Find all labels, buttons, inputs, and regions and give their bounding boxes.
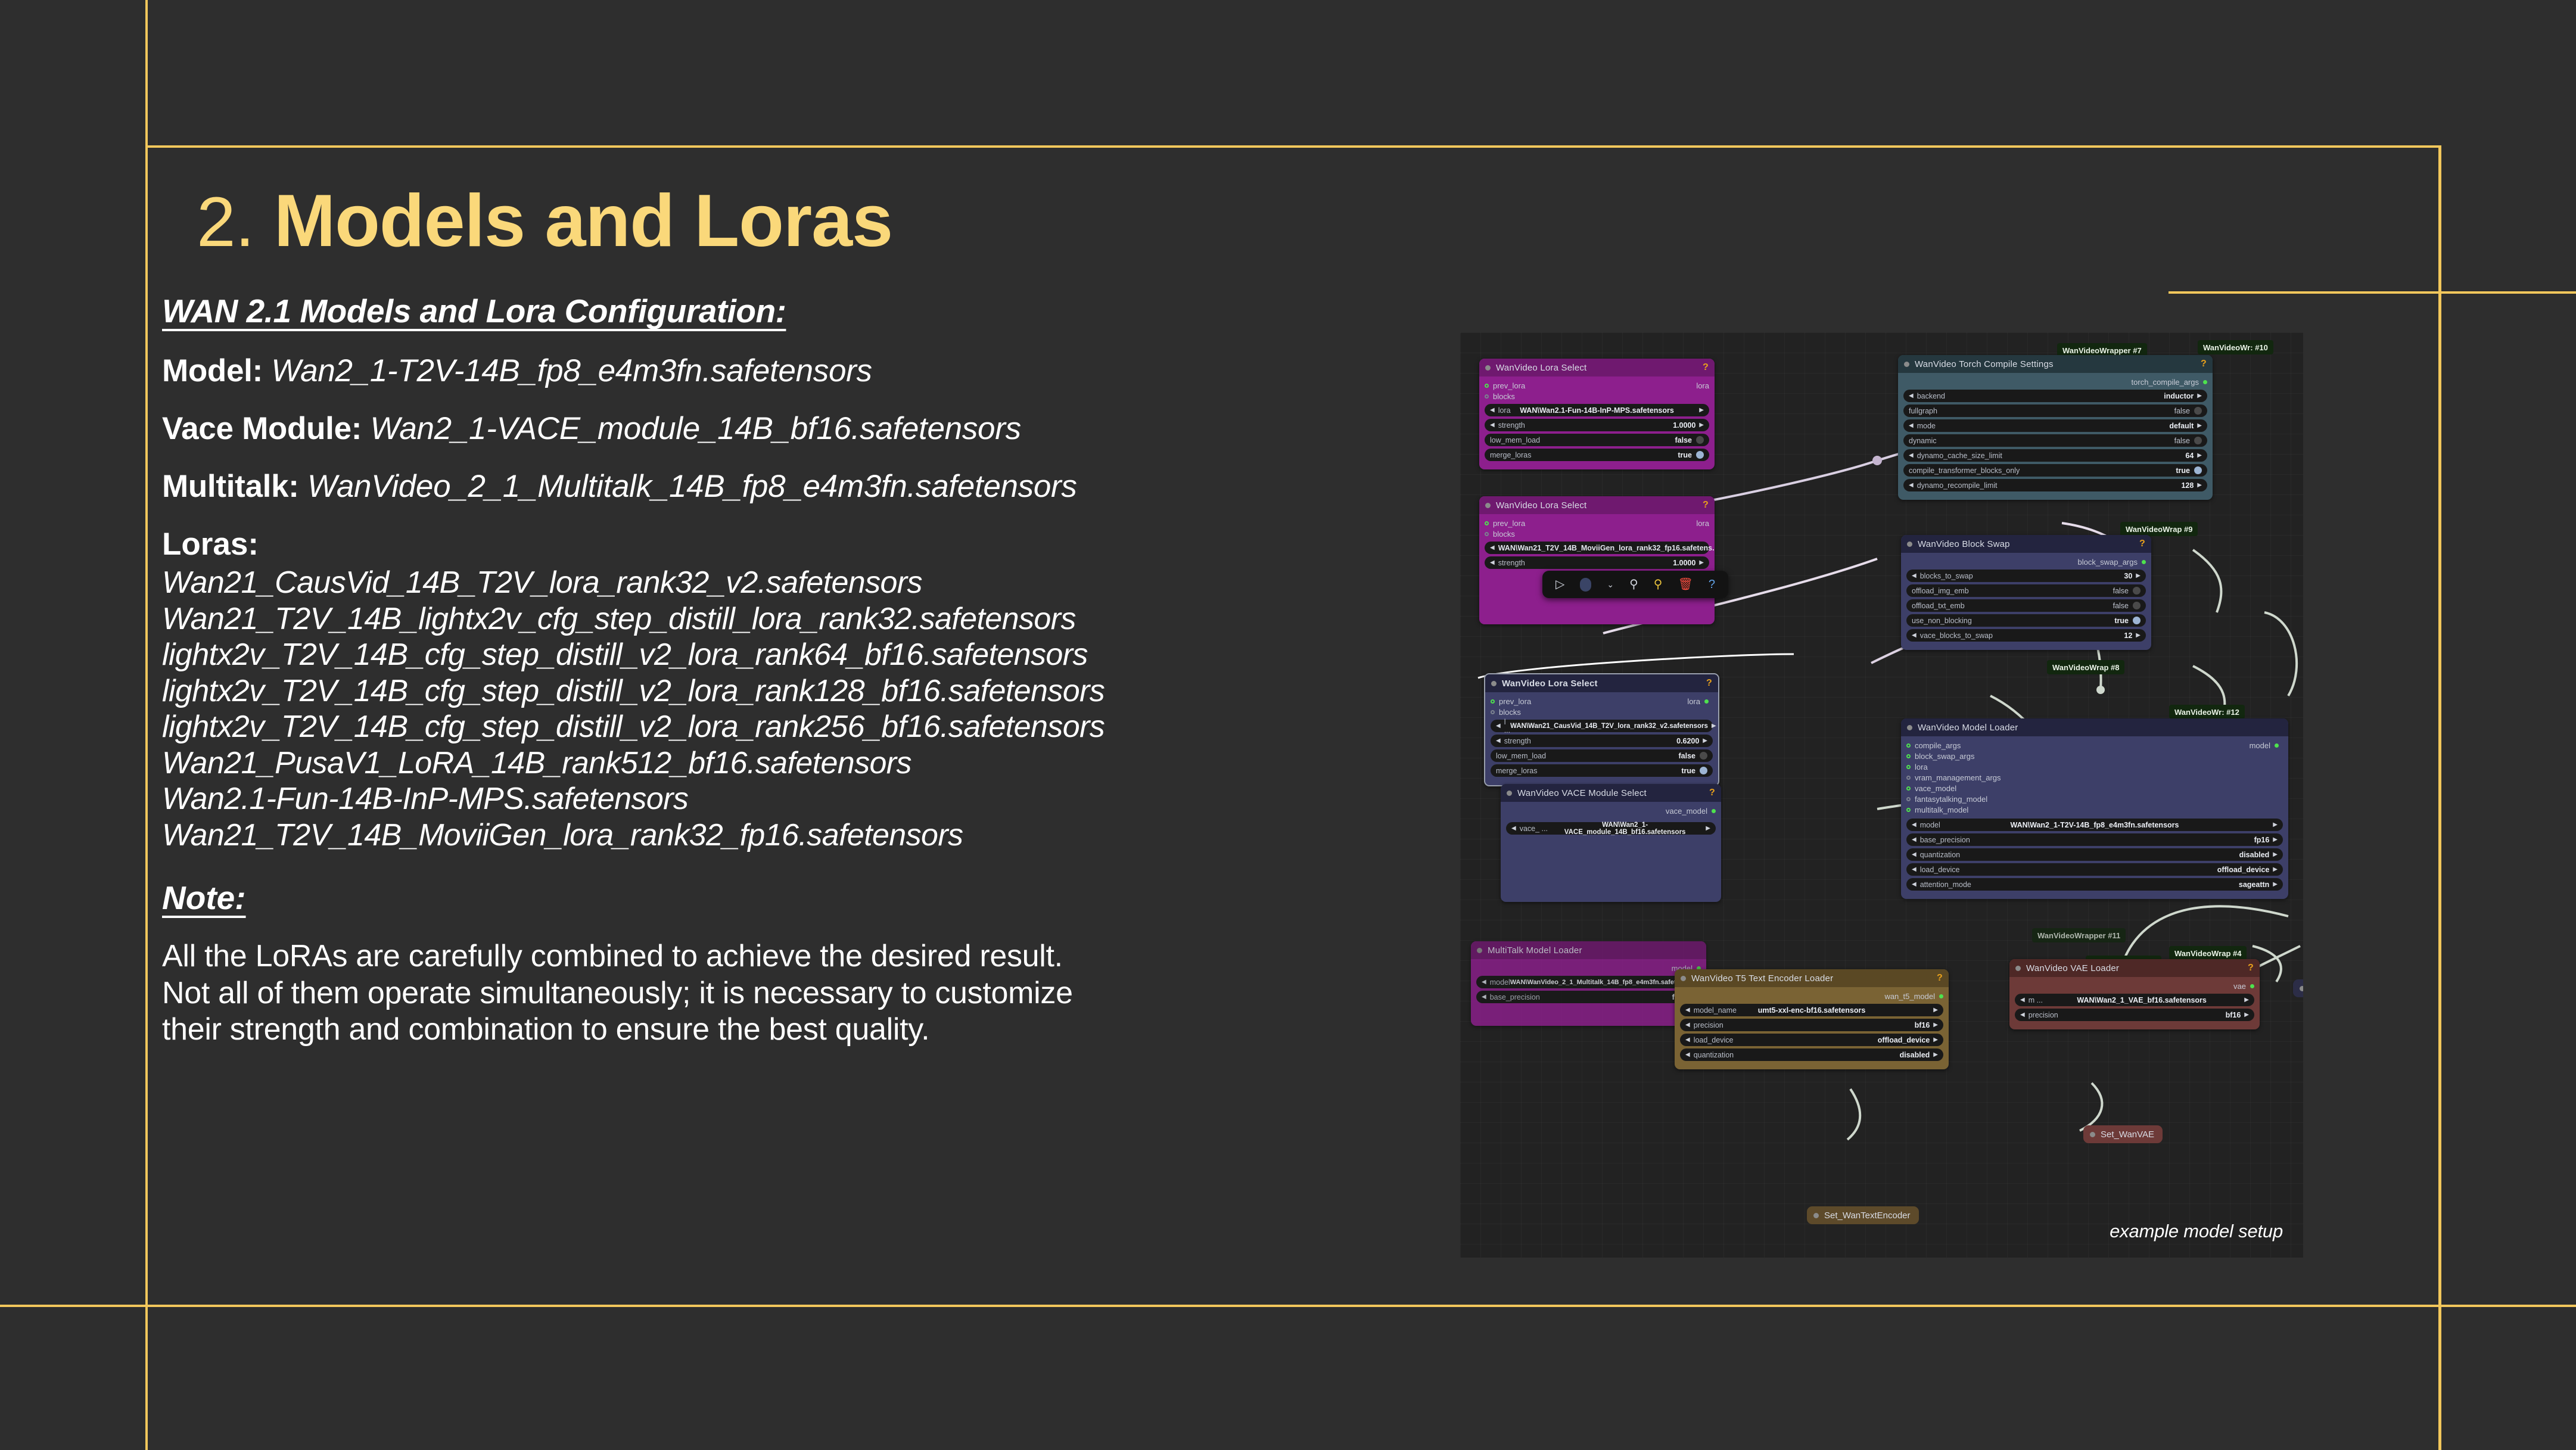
widget-value: true: [2114, 617, 2129, 625]
frame-rule-vertical-right: [2438, 145, 2441, 1450]
next-arrow-icon[interactable]: ▶: [1712, 723, 1716, 729]
widget-label: model: [1920, 821, 1940, 829]
input-port-multitalk-model[interactable]: multitalk_model: [1906, 804, 2283, 815]
widget-label: low_mem_load: [1496, 752, 1546, 760]
widget-dynamo-cache-size-limit[interactable]: ◀dynamo_cache_size_limit64▶: [1903, 449, 2207, 462]
widget-quantization[interactable]: ◀quantizationdisabled▶: [1906, 848, 2283, 861]
widget-offload-txt-emb[interactable]: offload_txt_embfalse: [1906, 599, 2146, 612]
widget-load-device[interactable]: ◀load_deviceoffload_device▶: [1680, 1034, 1943, 1046]
group-tag-wrapper-8: WanVideoWrap #8: [2047, 660, 2124, 674]
note-heading: Note:: [162, 879, 1431, 917]
port-pin-icon: [1485, 532, 1489, 536]
bypass-icon[interactable]: ⚲: [1629, 578, 1638, 590]
note-line: Not all of them operate simultaneously; …: [162, 975, 1431, 1012]
widget-value: false: [1679, 752, 1696, 760]
next-arrow-icon[interactable]: ▶: [2197, 422, 2202, 429]
input-port-fantasytalking-model[interactable]: fantasytalking_model: [1906, 794, 2283, 804]
prev-arrow-icon[interactable]: ◀: [1912, 572, 1917, 579]
node-body: prev_lora lora blocks ◀WAN\Wan21_T2V_14B…: [1479, 514, 1715, 577]
output-port-model-label: model: [2250, 741, 2270, 750]
node-header[interactable]: WanVideo Lora Select ?: [1479, 359, 1715, 376]
input-port-blocks[interactable]: blocks: [1485, 391, 1709, 402]
node-header[interactable]: WanVideo Torch Compile Settings ?: [1898, 355, 2213, 373]
port-label: blocks: [1493, 530, 1515, 539]
input-port-blocks[interactable]: blocks: [1485, 528, 1709, 539]
widget-value: false: [1675, 436, 1693, 444]
widget-label: quantization: [1920, 851, 1960, 859]
node-title: WanVideo VAE Loader: [2026, 963, 2119, 973]
widget-value: 64: [2185, 452, 2194, 460]
widget-load-device[interactable]: ◀load_deviceoffload_device▶: [1906, 863, 2283, 876]
widget-value: 1.0000: [1673, 559, 1695, 567]
multitalk-value: WanVideo_2_1_Multitalk_14B_fp8_e4m3fn.sa…: [307, 469, 1077, 504]
toggle-knob[interactable]: [2194, 437, 2202, 444]
frame-rule-horizontal-mid: [2169, 291, 2576, 294]
node-lora-select-mid[interactable]: WanVideo Lora Select ? prev_lora lora bl…: [1479, 496, 1715, 624]
widget-label: compile_transformer_blocks_only: [1909, 466, 2020, 475]
node-lora-select-causvid[interactable]: WanVideo Lora Select ? prev_lora lora bl…: [1484, 673, 1719, 786]
input-port-vace-model[interactable]: vace_model: [1906, 783, 2283, 794]
input-port-prev-lora[interactable]: prev_lora lora: [1485, 380, 1709, 391]
next-arrow-icon[interactable]: ▶: [1933, 1037, 1938, 1043]
toggle-knob[interactable]: [1696, 451, 1704, 459]
group-tag-wrapper-10: WanVideoWr: #10: [2198, 340, 2273, 354]
collapse-dot-icon[interactable]: [1491, 681, 1497, 686]
next-arrow-icon[interactable]: ▶: [2273, 851, 2278, 858]
prev-arrow-icon[interactable]: ◀: [1482, 979, 1486, 985]
node-body: torch_compile_args ◀backendinductor▶ ful…: [1898, 373, 2213, 500]
widget-label: vace_blocks_to_swap: [1920, 631, 1993, 640]
list-item: lightx2v_T2V_14B_cfg_step_distill_v2_lor…: [162, 709, 1431, 745]
prev-arrow-icon[interactable]: ◀: [1912, 881, 1917, 888]
model-label: Model: [162, 353, 253, 388]
output-port-model[interactable]: model: [1476, 963, 1701, 973]
port-label: wan_t5_model: [1884, 992, 1935, 1001]
next-arrow-icon[interactable]: ▶: [2273, 881, 2278, 888]
node-multitalk-model-loader[interactable]: MultiTalk Model Loader model ◀modelWAN\W…: [1471, 941, 1706, 1026]
port-label: block_swap_args: [2078, 558, 2138, 567]
section-number: 2.: [197, 183, 254, 262]
widget-value: 12: [2124, 631, 2132, 640]
widget-value: true: [1678, 451, 1692, 459]
widget-value: 128: [2181, 481, 2194, 490]
toggle-knob[interactable]: [2133, 617, 2141, 624]
next-arrow-icon[interactable]: ▶: [1933, 1051, 1938, 1058]
port-pin-icon: [1704, 699, 1709, 704]
configuration-subheading: WAN 2.1 Models and Lora Configuration:: [162, 292, 1431, 330]
help-icon[interactable]: ?: [2248, 963, 2254, 973]
port-pin-icon: [1491, 699, 1495, 704]
next-arrow-icon[interactable]: ▶: [1706, 825, 1710, 832]
node-header[interactable]: WanVideo Lora Select ?: [1485, 674, 1718, 692]
widget-value: true: [2176, 466, 2190, 475]
port-pin-icon: [1906, 754, 1911, 758]
port-label: fantasytalking_model: [1915, 795, 1987, 804]
prev-arrow-icon[interactable]: ◀: [1912, 632, 1917, 639]
widget-label: mode: [1917, 422, 1936, 430]
collapse-dot-icon[interactable]: [1904, 362, 1909, 367]
widget-base-precision[interactable]: ◀base_precisionfp16▶: [1476, 991, 1701, 1003]
node-title: WanVideo Torch Compile Settings: [1915, 359, 2054, 369]
prev-arrow-icon[interactable]: ◀: [1685, 1022, 1690, 1028]
vace-module-value: Wan2_1-VACE_module_14B_bf16.safetensors: [371, 411, 1021, 446]
widget-quantization[interactable]: ◀quantizationdisabled▶: [1680, 1048, 1943, 1061]
node-body: vace_model ◀vace_ ...WAN\Wan2_1-VACE_mod…: [1501, 802, 1721, 843]
help-icon[interactable]: ?: [1937, 973, 1943, 984]
widget-label: use_non_blocking: [1912, 617, 1972, 625]
group-tag-wrapper-9: WanVideoWrap #9: [2120, 522, 2198, 536]
help-icon[interactable]: ?: [2139, 539, 2145, 549]
widget-model-name[interactable]: ◀model_nameumt5-xxl-enc-bf16.safetensors…: [1680, 1004, 1943, 1016]
prev-arrow-icon[interactable]: ◀: [1909, 482, 1914, 488]
prev-arrow-icon[interactable]: ◀: [1482, 994, 1486, 1000]
help-icon[interactable]: ?: [1709, 578, 1715, 590]
node-block-swap[interactable]: WanVideo Block Swap ? block_swap_args ◀b…: [1901, 535, 2151, 650]
port-label: vace_model: [1915, 784, 1956, 793]
chevron-down-icon[interactable]: ⌄: [1607, 580, 1614, 589]
widget-value: sageattn: [2239, 880, 2269, 889]
list-item: Wan21_PusaV1_LoRA_14B_rank512_bf16.safet…: [162, 745, 1431, 782]
node-toolbar[interactable]: ▷ ⌄ ⚲ ⚲ 🗑 ?: [1542, 571, 1728, 598]
widget-label: model_name: [1694, 1006, 1737, 1015]
node-header[interactable]: WanVideo VACE Module Select ?: [1501, 784, 1721, 802]
collapse-dot-icon[interactable]: [1813, 1213, 1819, 1218]
port-pin-icon: [1712, 809, 1716, 813]
next-arrow-icon[interactable]: ▶: [2197, 393, 2202, 399]
model-value: Wan2_1-T2V-14B_fp8_e4m3fn.safetensors: [271, 353, 872, 388]
prev-arrow-icon[interactable]: ◀: [1912, 836, 1917, 843]
widget-lora[interactable]: ◀WAN\Wan21_T2V_14B_MoviiGen_lora_rank32_…: [1485, 542, 1709, 554]
widget-value: WAN\Wan21_CausVid_14B_T2V_lora_rank32_v2…: [1510, 723, 1708, 730]
widget-attention-mode[interactable]: ◀attention_modesageattn▶: [1906, 878, 2283, 891]
port-label: lora: [1915, 763, 1928, 771]
node-title: WanVideo Lora Select: [1502, 679, 1598, 689]
prev-arrow-icon[interactable]: ◀: [1496, 723, 1501, 729]
list-item: Wan21_T2V_14B_MoviiGen_lora_rank32_fp16.…: [162, 817, 1431, 854]
node-t5-text-encoder-loader[interactable]: WanVideo T5 Text Encoder Loader ? wan_t5…: [1675, 969, 1949, 1069]
widget-low-mem-load[interactable]: low_mem_loadfalse: [1485, 434, 1709, 446]
widget-use-non-blocking[interactable]: use_non_blockingtrue: [1906, 614, 2146, 627]
widget-lora[interactable]: ◀loraWAN\Wan2.1-Fun-14B-InP-MPS.safetens…: [1485, 404, 1709, 416]
port-label: prev_lora: [1499, 697, 1531, 706]
node-wanvideo-model-loader[interactable]: WanVideo Model Loader compile_args model…: [1901, 718, 2288, 899]
port-label: prev_lora: [1493, 381, 1525, 390]
group-tag-wrapper-4: WanVideoWrap #4: [2169, 946, 2247, 960]
prev-arrow-icon[interactable]: ◀: [1912, 866, 1917, 873]
port-pin-icon: [2142, 560, 2146, 564]
port-label: vram_management_args: [1915, 773, 2001, 782]
prev-arrow-icon[interactable]: ◀: [1496, 738, 1501, 744]
list-item: Wan21_T2V_14B_lightx2v_cfg_step_distill_…: [162, 601, 1431, 637]
widget-label: dynamo_cache_size_limit: [1917, 452, 2002, 460]
group-tag-wrapper-11: WanVideoWrapper #11: [2032, 928, 2126, 942]
widget-value: WAN\Wan2_1_VAE_bf16.safetensors: [2043, 996, 2241, 1004]
set-node-label: Set_WanTextEncoder: [1824, 1211, 1911, 1221]
port-label: blocks: [1499, 708, 1521, 717]
next-arrow-icon[interactable]: ▶: [2197, 452, 2202, 459]
toggle-knob[interactable]: [1700, 752, 1707, 760]
collapse-dot-icon[interactable]: [1477, 948, 1482, 953]
input-port-block-swap-args[interactable]: block_swap_args: [1906, 751, 2283, 761]
port-label: multitalk_model: [1915, 805, 1968, 814]
port-pin-icon: [1491, 710, 1495, 714]
loras-label: Loras:: [162, 526, 1431, 562]
collapse-dot-icon[interactable]: [1485, 503, 1491, 508]
widget-merge-loras[interactable]: merge_lorastrue: [1491, 764, 1713, 777]
widget-label: attention_mode: [1920, 880, 1971, 889]
prev-arrow-icon[interactable]: ◀: [1685, 1051, 1690, 1058]
widget-strength[interactable]: ◀strength1.0000▶: [1485, 419, 1709, 431]
node-title: WanVideo Lora Select: [1496, 363, 1586, 373]
output-port-vace-model[interactable]: vace_model: [1506, 805, 1716, 816]
widget-label: strength: [1498, 559, 1525, 567]
widget-strength[interactable]: ◀strength1.0000▶: [1485, 556, 1709, 569]
next-arrow-icon[interactable]: ▶: [2273, 866, 2278, 873]
output-port-wan-t5-model[interactable]: wan_t5_model: [1680, 991, 1943, 1001]
next-arrow-icon[interactable]: ▶: [2136, 632, 2141, 639]
node-header[interactable]: MultiTalk Model Loader: [1471, 941, 1706, 959]
widget-merge-loras[interactable]: merge_lorastrue: [1485, 449, 1709, 461]
next-arrow-icon[interactable]: ▶: [1699, 559, 1704, 566]
widget-base-precision[interactable]: ◀base_precisionfp16▶: [1906, 833, 2283, 846]
next-arrow-icon[interactable]: ▶: [1699, 422, 1704, 428]
widget-strength[interactable]: ◀strength0.6200▶: [1491, 735, 1713, 747]
group-tag-wrapper-12: WanVideoWr: #12: [2169, 705, 2245, 719]
node-header[interactable]: WanVideo VAE Loader ?: [2009, 959, 2260, 977]
widget-label: merge_loras: [1490, 451, 1531, 459]
node-vae-loader[interactable]: WanVideo VAE Loader ? vae ◀m ...WAN\Wan2…: [2009, 959, 2260, 1029]
widget-label: dynamo_recompile_limit: [1917, 481, 1998, 490]
widget-value: bf16: [2226, 1011, 2241, 1019]
widget-label: strength: [1504, 737, 1531, 745]
widget-label: offload_img_emb: [1912, 587, 1969, 595]
next-arrow-icon[interactable]: ▶: [2136, 572, 2141, 579]
frame-rule-vertical-left: [145, 0, 148, 1450]
help-icon[interactable]: ?: [1706, 678, 1712, 689]
widget-value: false: [2174, 407, 2190, 415]
widget-blocks-to-swap[interactable]: ◀blocks_to_swap30▶: [1906, 570, 2146, 582]
node-vace-module-select[interactable]: WanVideo VACE Module Select ? vace_model…: [1501, 784, 1721, 902]
input-port-compile-args[interactable]: compile_args model: [1906, 740, 2283, 751]
widget-value: WAN\Wan2.1-Fun-14B-InP-MPS.safetensors: [1485, 406, 1709, 415]
widget-label: vace_ ...: [1520, 824, 1548, 833]
output-port-block-swap-args[interactable]: block_swap_args: [1906, 556, 2146, 567]
list-item: Wan2.1-Fun-14B-InP-MPS.safetensors: [162, 781, 1431, 817]
collapse-dot-icon[interactable]: [1907, 542, 1912, 547]
list-item: Wan21_CausVid_14B_T2V_lora_rank32_v2.saf…: [162, 565, 1431, 601]
input-port-prev-lora[interactable]: prev_lora lora: [1485, 518, 1709, 528]
next-arrow-icon[interactable]: ▶: [2197, 482, 2202, 488]
prev-arrow-icon[interactable]: ◀: [1685, 1007, 1690, 1013]
prev-arrow-icon[interactable]: ◀: [1909, 393, 1914, 399]
node-lora-select-top[interactable]: WanVideo Lora Select ? prev_lora lora bl…: [1479, 359, 1715, 469]
widget-value: disabled: [2239, 851, 2270, 859]
output-port-lora-label: lora: [1696, 519, 1709, 528]
widget-value: WAN\WanVideo_2_1_Multitalk_14B_fp8_e4m3f…: [1510, 979, 1698, 986]
toggle-knob[interactable]: [2133, 587, 2141, 595]
prev-arrow-icon[interactable]: ◀: [2020, 997, 2025, 1003]
next-arrow-icon[interactable]: ▶: [1699, 407, 1704, 413]
toggle-knob[interactable]: [1700, 767, 1707, 774]
next-arrow-icon[interactable]: ▶: [1933, 1022, 1938, 1028]
widget-value: true: [1681, 767, 1695, 775]
widget-value: inductor: [2164, 392, 2194, 400]
prev-arrow-icon[interactable]: ◀: [1511, 825, 1516, 832]
pin-icon[interactable]: ⚲: [1654, 578, 1663, 590]
widget-label: low_mem_load: [1490, 436, 1540, 444]
trash-icon[interactable]: 🗑: [1678, 578, 1693, 590]
multitalk-label: Multitalk: [162, 469, 288, 504]
toggle-knob[interactable]: [2133, 602, 2141, 609]
widget-backend[interactable]: ◀backendinductor▶: [1903, 390, 2207, 402]
toggle-knob[interactable]: [1696, 436, 1704, 444]
widget-lora[interactable]: ◀l ...WAN\Wan21_CausVid_14B_T2V_lora_ran…: [1491, 720, 1713, 732]
port-pin-icon: [1485, 394, 1489, 399]
port-pin-icon: [2250, 984, 2254, 988]
set-node-label: Set_WanVAE: [2101, 1129, 2154, 1140]
port-pin-icon: [1906, 808, 1911, 812]
prev-arrow-icon[interactable]: ◀: [1909, 422, 1914, 429]
widget-fullgraph[interactable]: fullgraphfalse: [1903, 404, 2207, 417]
port-pin-icon: [1939, 994, 1943, 998]
widget-precision[interactable]: ◀precisionbf16▶: [2015, 1009, 2254, 1021]
widget-low-mem-load[interactable]: low_mem_loadfalse: [1491, 749, 1713, 762]
help-icon[interactable]: ?: [1709, 788, 1715, 798]
widget-offload-img-emb[interactable]: offload_img_embfalse: [1906, 584, 2146, 597]
prev-arrow-icon[interactable]: ◀: [1909, 452, 1914, 459]
widget-value: false: [2113, 587, 2129, 595]
toggle-knob[interactable]: [2194, 407, 2202, 415]
collapse-dot-icon[interactable]: [1485, 365, 1491, 371]
widget-value: false: [2174, 437, 2190, 445]
port-pin-icon: [1906, 776, 1911, 780]
widget-value: disabled: [1900, 1051, 1930, 1059]
widget-value: 1.0000: [1673, 421, 1695, 430]
node-header[interactable]: WanVideo Lora Select ?: [1479, 496, 1715, 514]
next-arrow-icon[interactable]: ▶: [1933, 1007, 1938, 1013]
frame-rule-horizontal-bottom: [0, 1305, 2576, 1307]
vace-module-label: Vace Module: [162, 411, 351, 446]
widget-model[interactable]: ◀modelWAN\Wan2_1-T2V-14B_fp8_e4m3fn.safe…: [1906, 819, 2283, 831]
node-set-wantextencoder[interactable]: Set_WanTextEncoder: [1807, 1206, 1919, 1224]
help-icon[interactable]: ?: [1703, 500, 1709, 511]
next-arrow-icon[interactable]: ▶: [2244, 1012, 2249, 1018]
note-line: All the LoRAs are carefully combined to …: [162, 938, 1431, 975]
port-label: prev_lora: [1493, 519, 1525, 528]
next-arrow-icon[interactable]: ▶: [2244, 997, 2249, 1003]
next-arrow-icon[interactable]: ▶: [2273, 822, 2278, 828]
port-pin-icon: [2275, 743, 2279, 748]
port-pin-icon: [1485, 384, 1489, 388]
page-title: 2. Models and Loras: [197, 179, 892, 263]
node-title: WanVideo Model Loader: [1918, 723, 2018, 733]
collapse-dot-icon[interactable]: [1681, 976, 1686, 981]
collapse-dot-icon[interactable]: [2090, 1132, 2095, 1137]
widget-label: dynamic: [1909, 437, 1937, 445]
prev-arrow-icon[interactable]: ◀: [1912, 822, 1917, 828]
port-label: torch_compile_args: [2132, 378, 2199, 387]
help-icon[interactable]: ?: [1703, 362, 1709, 373]
widget-vace-blocks-to-swap[interactable]: ◀vace_blocks_to_swap12▶: [1906, 629, 2146, 642]
widget-model[interactable]: ◀modelWAN\WanVideo_2_1_Multitalk_14B_fp8…: [1476, 976, 1701, 988]
collapse-dot-icon[interactable]: [2015, 966, 2021, 971]
widget-label: load_device: [1920, 866, 1960, 874]
prev-arrow-icon[interactable]: ◀: [1490, 422, 1495, 428]
section-title: Models and Loras: [274, 180, 892, 262]
port-pin-icon: [1906, 765, 1911, 769]
prev-arrow-icon[interactable]: ◀: [2020, 1012, 2025, 1018]
play-icon[interactable]: ▷: [1555, 578, 1564, 590]
widget-label: fullgraph: [1909, 407, 1937, 415]
prev-arrow-icon[interactable]: ◀: [1912, 851, 1917, 858]
prev-arrow-icon[interactable]: ◀: [1490, 559, 1495, 566]
widget-label: precision: [1694, 1021, 1723, 1029]
output-port-lora-label: lora: [1696, 381, 1709, 390]
widget-mode[interactable]: ◀modedefault▶: [1903, 419, 2207, 432]
input-port-vram-management-args[interactable]: vram_management_args: [1906, 772, 2283, 783]
prev-arrow-icon[interactable]: ◀: [1685, 1037, 1690, 1043]
widget-label: model: [1490, 978, 1510, 987]
next-arrow-icon[interactable]: ▶: [2273, 836, 2278, 843]
node-body: block_swap_args ◀blocks_to_swap30▶ offlo…: [1901, 553, 2151, 650]
toggle-knob[interactable]: [2194, 466, 2202, 474]
prev-arrow-icon[interactable]: ◀: [1490, 544, 1495, 551]
node-torch-compile-settings[interactable]: WanVideo Torch Compile Settings ? torch_…: [1898, 355, 2213, 500]
widget-precision[interactable]: ◀precisionbf16▶: [1680, 1019, 1943, 1031]
widget-label: m ...: [2029, 996, 2043, 1004]
widget-label: strength: [1498, 421, 1525, 430]
output-port-vae[interactable]: vae: [2015, 981, 2254, 991]
widget-label: l ...: [1504, 718, 1510, 735]
slide-root: 2. Models and Loras WAN 2.1 Models and L…: [0, 0, 2576, 1450]
collapse-dot-icon[interactable]: [2300, 986, 2303, 991]
widget-dynamo-recompile-limit[interactable]: ◀dynamo_recompile_limit128▶: [1903, 479, 2207, 491]
next-arrow-icon[interactable]: ▶: [1703, 738, 1707, 744]
widget-dynamic[interactable]: dynamicfalse: [1903, 434, 2207, 447]
widget-compile-transformer-blocks-only[interactable]: compile_transformer_blocks_onlytrue: [1903, 464, 2207, 477]
input-port-lora[interactable]: lora: [1906, 761, 2283, 772]
help-icon[interactable]: ?: [2201, 359, 2207, 369]
input-port-blocks[interactable]: blocks: [1491, 707, 1713, 717]
widget-value: false: [2113, 602, 2129, 610]
port-label: compile_args: [1915, 741, 1961, 750]
widget-label: backend: [1917, 392, 1945, 400]
list-item: lightx2v_T2V_14B_cfg_step_distill_v2_lor…: [162, 673, 1431, 710]
node-set-wanmodel[interactable]: Set_WanModel: [2293, 979, 2303, 997]
output-port-torch-compile-args[interactable]: torch_compile_args: [1903, 376, 2207, 387]
node-header[interactable]: WanVideo Block Swap ?: [1901, 535, 2151, 553]
port-label: vae: [2233, 982, 2246, 991]
output-port-lora-label: lora: [1687, 697, 1700, 706]
color-swatch-icon[interactable]: [1580, 578, 1591, 592]
port-label: vace_model: [1666, 807, 1707, 816]
port-label: blocks: [1493, 392, 1515, 401]
collapse-dot-icon[interactable]: [1507, 791, 1512, 796]
node-header[interactable]: WanVideo Model Loader: [1901, 718, 2288, 736]
widget-vace-module[interactable]: ◀vace_ ...WAN\Wan2_1-VACE_module_14B_bf1…: [1506, 822, 1716, 835]
vace-module-row: Vace Module: Wan2_1-VACE_module_14B_bf16…: [162, 410, 1431, 447]
node-header[interactable]: WanVideo T5 Text Encoder Loader ?: [1675, 969, 1949, 987]
port-pin-icon: [1906, 797, 1911, 801]
input-port-prev-lora[interactable]: prev_lora lora: [1491, 696, 1713, 707]
prev-arrow-icon[interactable]: ◀: [1490, 407, 1495, 413]
node-set-wanvae[interactable]: Set_WanVAE: [2083, 1125, 2163, 1143]
widget-vae-model[interactable]: ◀m ...WAN\Wan2_1_VAE_bf16.safetensors▶: [2015, 994, 2254, 1006]
widget-value: WAN\Wan2_1-VACE_module_14B_bf16.safetens…: [1548, 822, 1702, 836]
widget-label: load_device: [1694, 1036, 1734, 1044]
widget-value: WAN\Wan21_T2V_14B_MoviiGen_lora_rank32_f…: [1498, 544, 1715, 552]
collapse-dot-icon[interactable]: [1907, 725, 1912, 730]
